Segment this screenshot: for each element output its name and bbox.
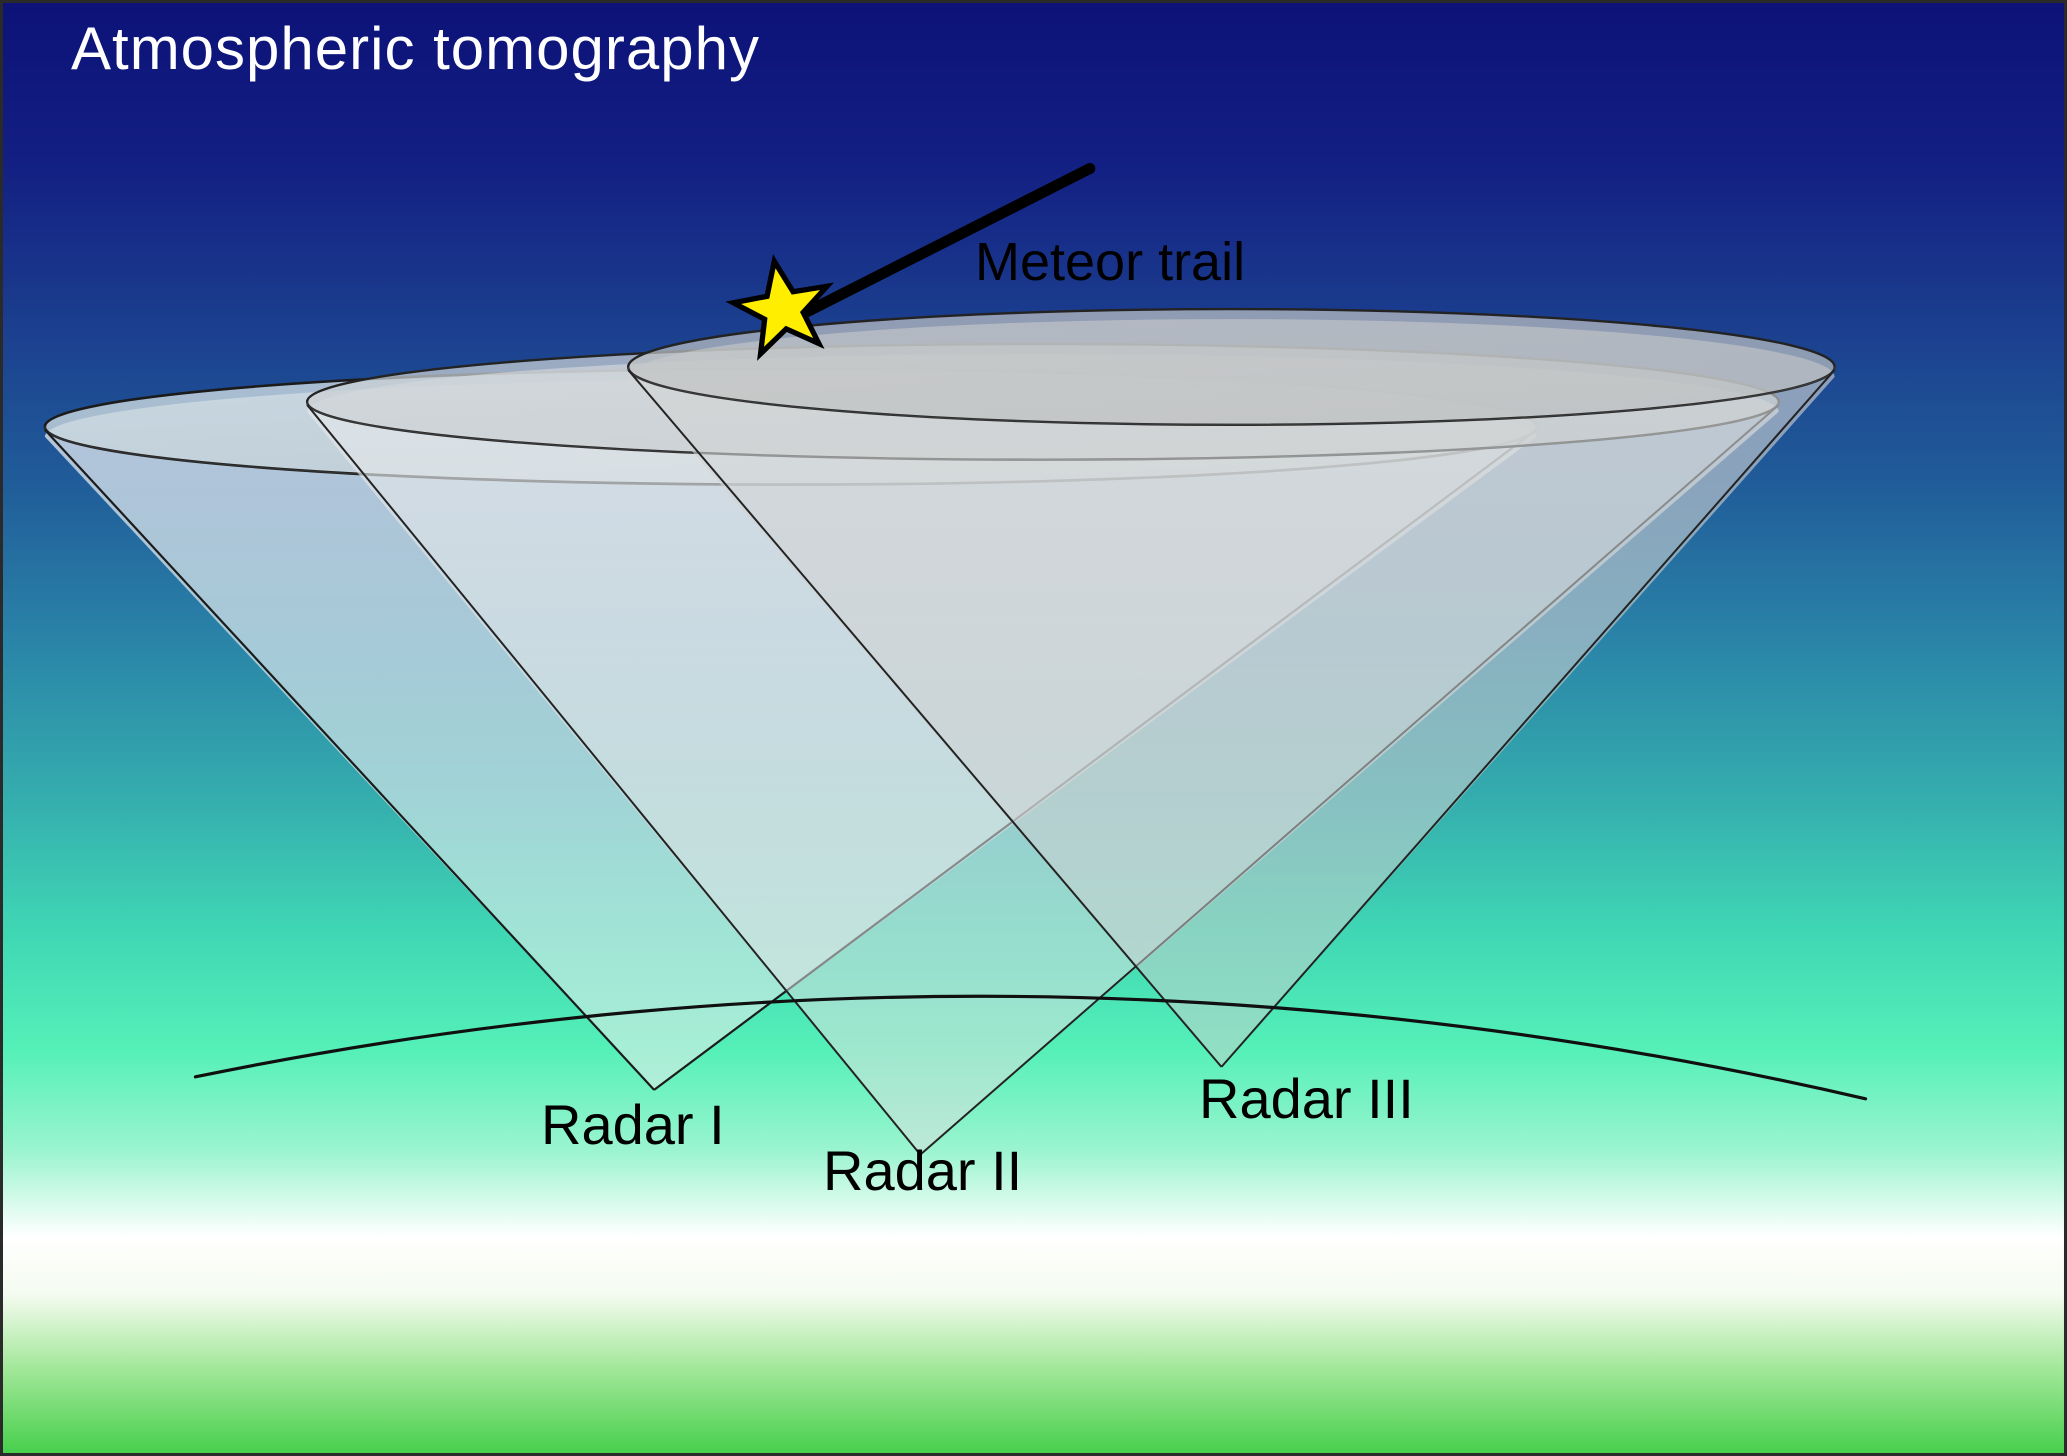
radar-3-label: Radar III (1199, 1071, 1414, 1127)
page-title: Atmospheric tomography (71, 19, 760, 79)
radar-1-label: Radar I (541, 1097, 725, 1153)
figure-canvas: Atmospheric tomography Meteor trail Rada… (0, 0, 2067, 1456)
scene-geometry (3, 3, 2064, 1455)
radar-2-label: Radar II (823, 1143, 1022, 1199)
meteor-trail-label: Meteor trail (975, 235, 1245, 289)
